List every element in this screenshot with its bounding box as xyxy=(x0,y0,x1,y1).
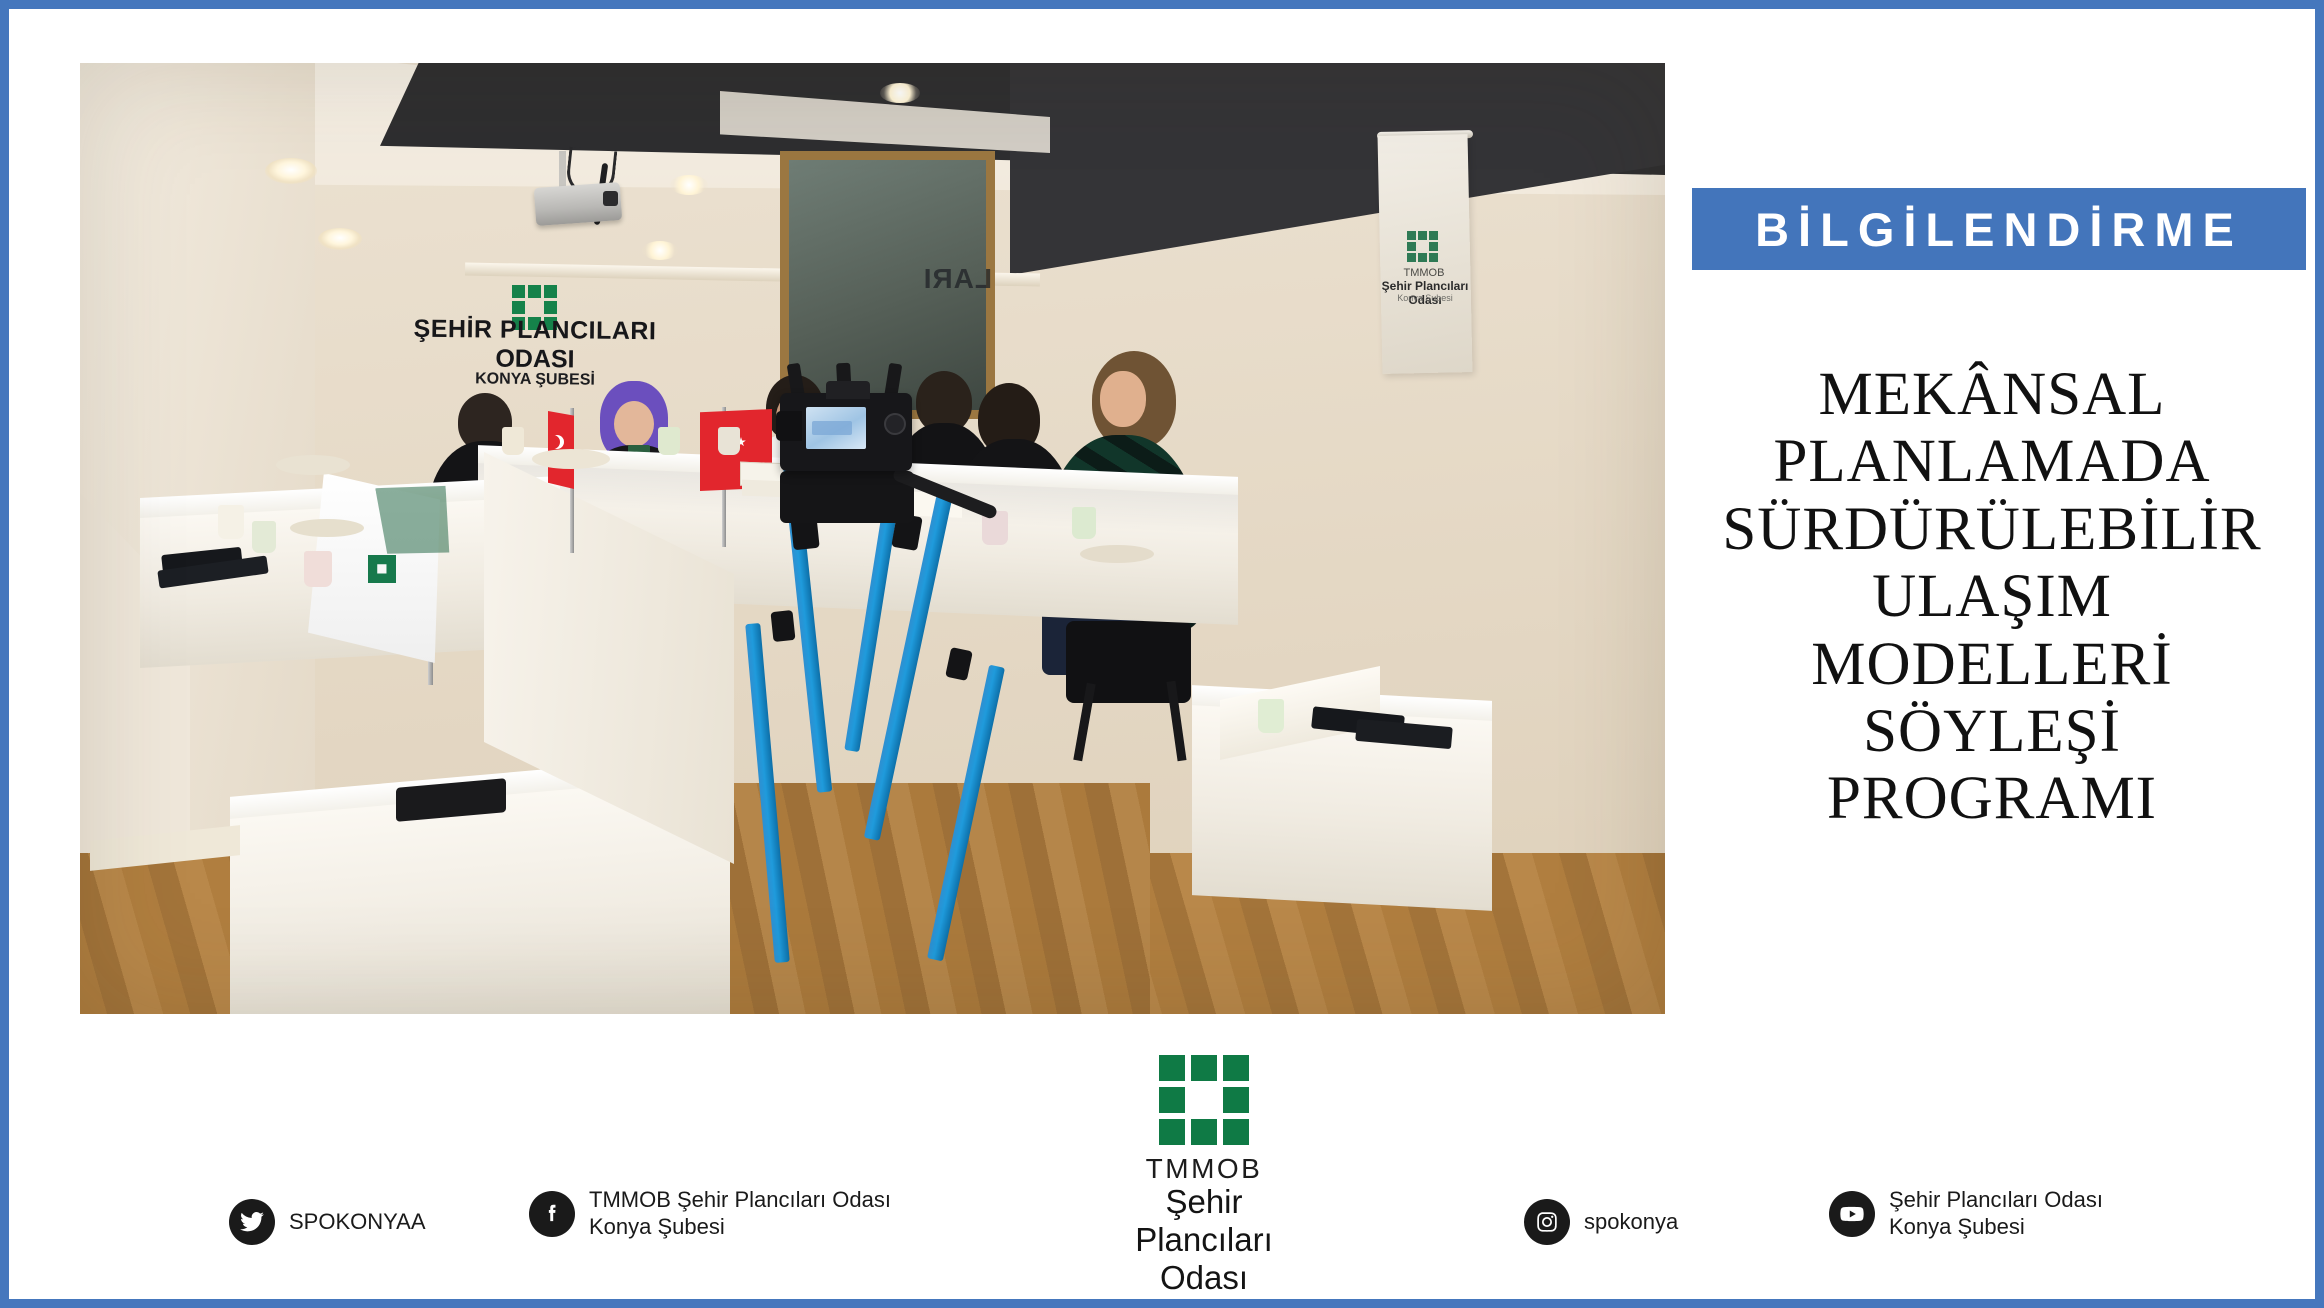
tripod-clamp-3 xyxy=(770,610,795,642)
window-lettering: LARI xyxy=(792,263,992,295)
ceiling-light-2 xyxy=(318,228,362,250)
projector-mount-pole xyxy=(559,151,566,189)
title-line-4: ULAŞIM xyxy=(1681,563,2303,630)
turkish-flag-left-crescent xyxy=(550,435,564,449)
footer-logo-tmmob: TMMOB xyxy=(1104,1153,1304,1185)
paper-cup-6 xyxy=(304,551,332,587)
rollup-tmmob-text: TMMOB xyxy=(1385,267,1463,279)
rollup-branch-text: Konya Şubesi xyxy=(1383,293,1467,303)
instagram-icon xyxy=(1524,1199,1570,1245)
ceiling-light-4 xyxy=(642,241,678,260)
social-facebook-handle: TMMOB Şehir Plancıları Odası Konya Şubes… xyxy=(589,1187,891,1241)
camera-lens xyxy=(776,411,802,441)
ceiling-light-3 xyxy=(670,175,708,195)
footer-logo-branch: Konya Şubesi xyxy=(1104,1296,1304,1308)
banner-label: BİLGİLENDİRME xyxy=(1755,202,2243,257)
title-line-5: MODELLERİ xyxy=(1681,631,2303,698)
social-youtube-handle: Şehir Plancıları Odası Konya Şubesi xyxy=(1889,1187,2103,1241)
footer-logo-chamber: Şehir Plancıları Odası xyxy=(1104,1183,1304,1297)
ceiling-light-5 xyxy=(880,83,920,103)
paper-cup-3 xyxy=(718,427,740,455)
social-youtube[interactable]: Şehir Plancıları Odası Konya Şubesi xyxy=(1829,1187,2103,1241)
plate-cookies-2 xyxy=(532,449,610,469)
social-instagram-handle: spokonya xyxy=(1584,1209,1678,1236)
social-twitter-handle: SPOKONYAA xyxy=(289,1209,426,1236)
paper-cup-4 xyxy=(218,505,244,539)
person-face-woman-3 xyxy=(1100,371,1146,427)
person-face-speaker xyxy=(614,401,654,447)
paper-cup-1 xyxy=(502,427,524,455)
youtube-icon xyxy=(1829,1191,1875,1237)
paper-cup-8 xyxy=(1258,699,1284,733)
paper-cup-7 xyxy=(1072,507,1096,539)
tmmob-table-flag-text xyxy=(375,478,455,561)
title-line-3: SÜRDÜRÜLEBİLİR xyxy=(1681,496,2303,563)
poster-canvas: LARI TMMOB Şehir Plancıları Odası Konya … xyxy=(0,0,2324,1308)
bilgilendirme-banner: BİLGİLENDİRME xyxy=(1692,188,2306,270)
plate-cookies-4 xyxy=(1080,545,1154,563)
plate-cookies-1 xyxy=(276,455,350,475)
footer-tmmob-logo: TMMOB Şehir Plancıları Odası Konya Şubes… xyxy=(1104,1055,1304,1308)
projector-lens xyxy=(603,191,618,206)
social-instagram[interactable]: spokonya xyxy=(1524,1199,1678,1245)
paper-cup-2 xyxy=(658,427,680,455)
camera-lcd-content xyxy=(812,421,852,435)
tmmob-logo-icon xyxy=(1159,1055,1249,1145)
rollup-logo xyxy=(1407,231,1438,262)
facebook-icon xyxy=(529,1191,575,1237)
plate-cookies-3 xyxy=(290,519,364,537)
title-line-2: PLANLAMADA xyxy=(1681,428,2303,495)
camera-dial xyxy=(884,413,906,435)
paper-cup-5 xyxy=(252,521,276,553)
wall-sign-line-1: ŞEHİR PLANCILARI xyxy=(410,315,660,347)
ceiling-light-1 xyxy=(265,158,317,184)
social-twitter[interactable]: SPOKONYAA xyxy=(229,1199,426,1245)
social-facebook[interactable]: TMMOB Şehir Plancıları Odası Konya Şubes… xyxy=(529,1187,891,1241)
title-line-1: MEKÂNSAL xyxy=(1681,361,2303,428)
twitter-icon xyxy=(229,1199,275,1245)
title-line-7: PROGRAMI xyxy=(1681,765,2303,832)
event-photo: LARI TMMOB Şehir Plancıları Odası Konya … xyxy=(80,63,1665,1014)
event-title: MEKÂNSAL PLANLAMADA SÜRDÜRÜLEBİLİR ULAŞI… xyxy=(1681,361,2303,833)
title-line-6: SÖYLEŞİ xyxy=(1681,698,2303,765)
camera-viewfinder xyxy=(826,381,870,399)
